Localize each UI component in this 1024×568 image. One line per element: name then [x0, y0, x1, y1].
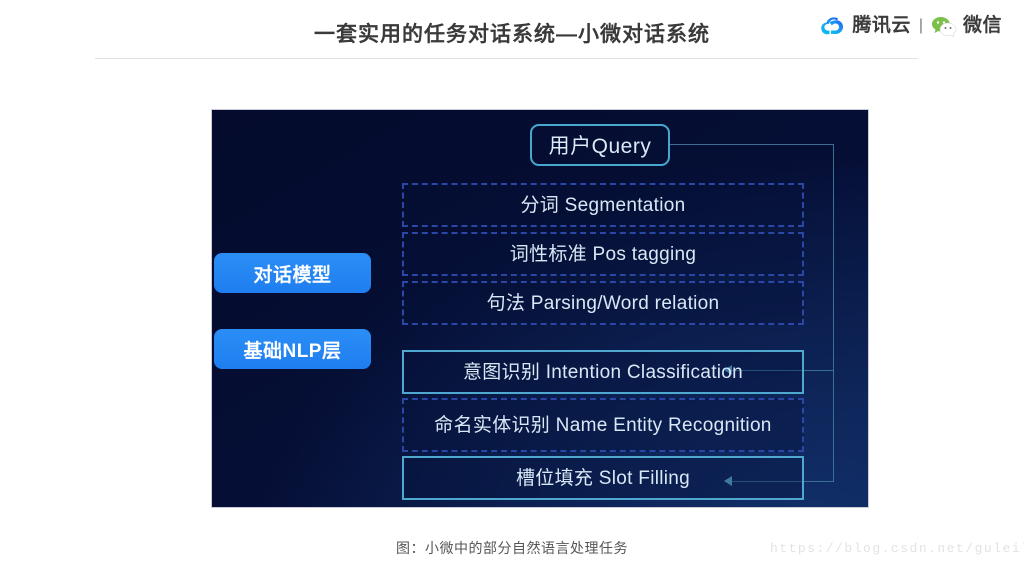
node-user-query-label: 用户Query — [549, 130, 652, 160]
node-intention-classification-label: 意图识别 Intention Classification — [463, 360, 743, 385]
diagram-panel: 用户Query 对话模型 基础NLP层 分词 Segmentation 词性标准… — [212, 110, 868, 507]
node-name-entity-recognition-label: 命名实体识别 Name Entity Recognition — [434, 413, 771, 438]
node-slot-filling-label: 槽位填充 Slot Filling — [516, 466, 690, 491]
brand-lockup: 腾讯云 | 微信 — [820, 11, 1002, 41]
wechat-logo-icon — [931, 15, 957, 37]
node-parsing[interactable]: 句法 Parsing/Word relation — [402, 281, 804, 325]
node-pos-tagging[interactable]: 词性标准 Pos tagging — [402, 232, 804, 276]
brand-separator: | — [919, 15, 923, 37]
node-parsing-label: 句法 Parsing/Word relation — [487, 291, 720, 316]
watermark-url: https://blog.csdn.net/guleileo — [770, 541, 1024, 556]
connector-line-vertical — [833, 144, 834, 482]
node-intention-classification[interactable]: 意图识别 Intention Classification — [402, 350, 804, 394]
nlp-task-stack: 分词 Segmentation 词性标准 Pos tagging 句法 Pars… — [402, 183, 804, 325]
pill-dialog-model-label: 对话模型 — [253, 260, 331, 287]
pill-dialog-model[interactable]: 对话模型 — [214, 253, 371, 293]
wechat-label: 微信 — [963, 15, 1002, 37]
pill-basic-nlp-layer-label: 基础NLP层 — [243, 336, 341, 363]
node-user-query[interactable]: 用户Query — [530, 124, 670, 166]
slide-header: 一套实用的任务对话系统—小微对话系统 腾讯云 | — [0, 0, 1024, 60]
node-pos-tagging-label: 词性标准 Pos tagging — [510, 242, 696, 267]
connector-line-from-query — [669, 144, 834, 145]
pill-basic-nlp-layer[interactable]: 基础NLP层 — [214, 329, 371, 369]
tencent-cloud-logo-icon — [820, 15, 846, 37]
node-name-entity-recognition[interactable]: 命名实体识别 Name Entity Recognition — [402, 398, 804, 452]
node-slot-filling[interactable]: 槽位填充 Slot Filling — [402, 456, 804, 500]
node-segmentation[interactable]: 分词 Segmentation — [402, 183, 804, 227]
header-divider — [95, 58, 918, 59]
dialog-task-stack: 意图识别 Intention Classification 命名实体识别 Nam… — [402, 350, 804, 500]
tencent-cloud-label: 腾讯云 — [852, 15, 911, 37]
node-segmentation-label: 分词 Segmentation — [520, 193, 685, 218]
